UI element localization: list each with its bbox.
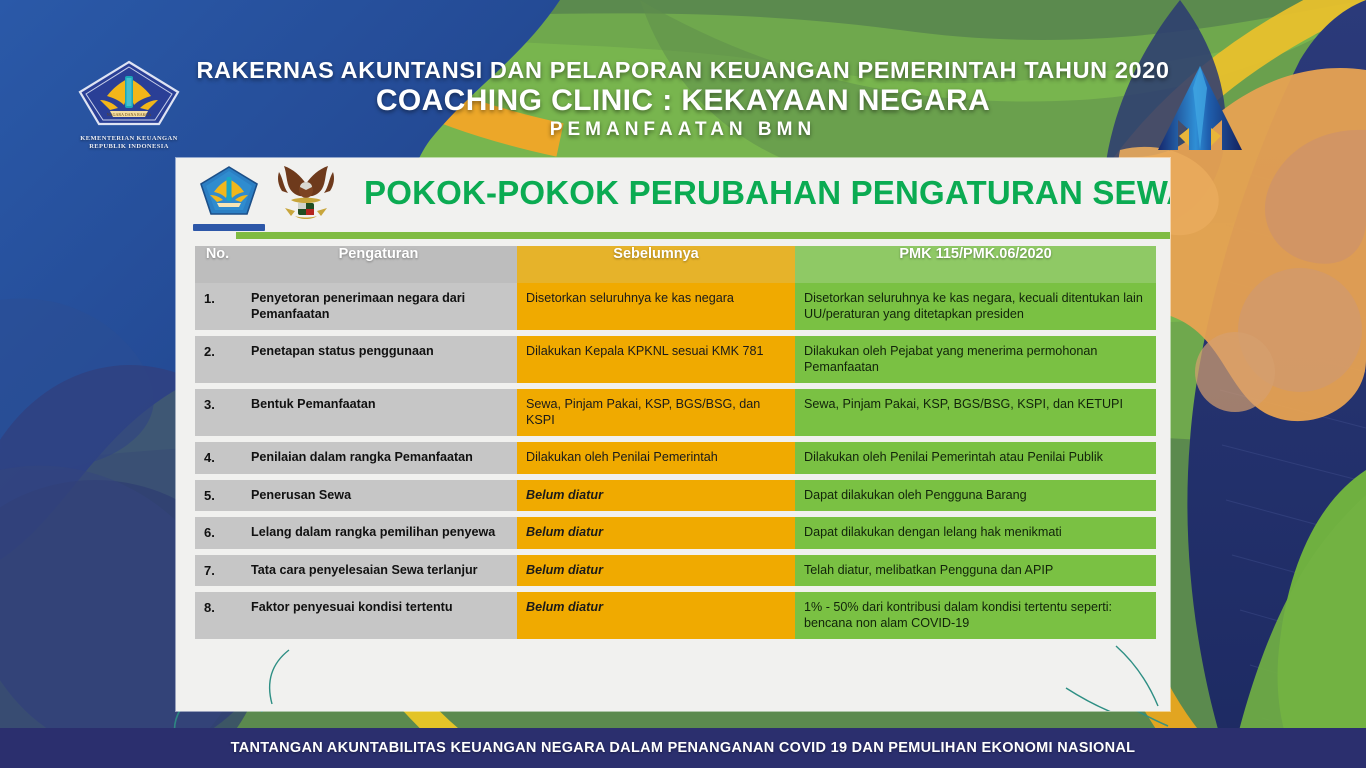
- cell-no: 7.: [195, 555, 240, 587]
- kemenkeu-caption-line2: REPUBLIK INDONESIA: [66, 143, 192, 151]
- cell-no: 3.: [195, 389, 240, 436]
- svg-text:NAGARA DANA RAKCA: NAGARA DANA RAKCA: [107, 112, 151, 117]
- kemenkeu-caption-line1: KEMENTERIAN KEUANGAN: [66, 135, 192, 143]
- table-row: 1.Penyetoran penerimaan negara dari Pema…: [195, 283, 1156, 330]
- cell-pengaturan: Tata cara penyelesaian Sewa terlanjur: [240, 555, 517, 587]
- title-underline: [236, 232, 1170, 239]
- cell-no: 2.: [195, 336, 240, 383]
- cell-no: 1.: [195, 283, 240, 330]
- cell-sebelumnya: Dilakukan Kepala KPKNL sesuai KMK 781: [517, 336, 795, 383]
- cell-pmk: Dapat dilakukan dengan lelang hak menikm…: [795, 517, 1156, 549]
- page-title: POKOK-POKOK PERUBAHAN PENGATURAN SEWA: [364, 174, 1144, 212]
- cell-pengaturan: Penyetoran penerimaan negara dari Pemanf…: [240, 283, 517, 330]
- cell-pmk: Dilakukan oleh Penilai Pemerintah atau P…: [795, 442, 1156, 474]
- cell-pmk: Dilakukan oleh Pejabat yang menerima per…: [795, 336, 1156, 383]
- slide-card: POKOK-POKOK PERUBAHAN PENGATURAN SEWA No…: [176, 158, 1170, 711]
- table-row: 8.Faktor penyesuai kondisi tertentuBelum…: [195, 592, 1156, 639]
- cell-sebelumnya: Belum diatur: [517, 555, 795, 587]
- kemenkeu-caption: KEMENTERIAN KEUANGAN REPUBLIK INDONESIA: [66, 135, 192, 151]
- table-header-pmk: PMK 115/PMK.06/2020: [795, 246, 1156, 283]
- arrow-up-icon: [1145, 58, 1255, 158]
- cell-pmk: Sewa, Pinjam Pakai, KSP, BGS/BSG, KSPI, …: [795, 389, 1156, 436]
- comparison-table: No. Pengaturan Sebelumnya PMK 115/PMK.06…: [195, 246, 1156, 639]
- kemenkeu-logo: NAGARA DANA RAKCA KEMENTERIAN KEUANGAN R…: [66, 58, 192, 158]
- table-body: 1.Penyetoran penerimaan negara dari Pema…: [195, 283, 1156, 639]
- cell-pengaturan: Faktor penyesuai kondisi tertentu: [240, 592, 517, 639]
- cell-no: 8.: [195, 592, 240, 639]
- table-header-sebelumnya: Sebelumnya: [517, 246, 795, 283]
- table-row: 5.Penerusan SewaBelum diaturDapat dilaku…: [195, 480, 1156, 512]
- footer-text: TANTANGAN AKUNTABILITAS KEUANGAN NEGARA …: [231, 740, 1136, 756]
- cell-pengaturan: Penetapan status penggunaan: [240, 336, 517, 383]
- table-row: 4.Penilaian dalam rangka PemanfaatanDila…: [195, 442, 1156, 474]
- slide-kemenkeu-logo-icon: [195, 164, 263, 222]
- cell-sebelumnya: Belum diatur: [517, 517, 795, 549]
- cell-no: 5.: [195, 480, 240, 512]
- cell-pengaturan: Lelang dalam rangka pemilihan penyewa: [240, 517, 517, 549]
- table-header-pengaturan: Pengaturan: [240, 246, 517, 283]
- slide-card-header: POKOK-POKOK PERUBAHAN PENGATURAN SEWA: [176, 158, 1170, 234]
- table-row: 3.Bentuk PemanfaatanSewa, Pinjam Pakai, …: [195, 389, 1156, 436]
- kemenkeu-emblem-icon: NAGARA DANA RAKCA: [66, 58, 192, 128]
- table-header-row: No. Pengaturan Sebelumnya PMK 115/PMK.06…: [195, 246, 1156, 283]
- slide-logo-underline: [193, 224, 265, 231]
- cell-pengaturan: Penerusan Sewa: [240, 480, 517, 512]
- cell-sebelumnya: Sewa, Pinjam Pakai, KSP, BGS/BSG, dan KS…: [517, 389, 795, 436]
- cell-sebelumnya: Dilakukan oleh Penilai Pemerintah: [517, 442, 795, 474]
- cell-pengaturan: Bentuk Pemanfaatan: [240, 389, 517, 436]
- cell-pmk: 1% - 50% dari kontribusi dalam kondisi t…: [795, 592, 1156, 639]
- table-row: 2.Penetapan status penggunaanDilakukan K…: [195, 336, 1156, 383]
- table-header-no: No.: [195, 246, 240, 283]
- cell-sebelumnya: Belum diatur: [517, 592, 795, 639]
- cell-pengaturan: Penilaian dalam rangka Pemanfaatan: [240, 442, 517, 474]
- cell-pmk: Disetorkan seluruhnya ke kas negara, kec…: [795, 283, 1156, 330]
- cell-sebelumnya: Disetorkan seluruhnya ke kas negara: [517, 283, 795, 330]
- cell-pmk: Dapat dilakukan oleh Pengguna Barang: [795, 480, 1156, 512]
- cell-no: 4.: [195, 442, 240, 474]
- table-row: 6.Lelang dalam rangka pemilihan penyewaB…: [195, 517, 1156, 549]
- table-row: 7.Tata cara penyelesaian Sewa terlanjurB…: [195, 555, 1156, 587]
- garuda-logo-icon: [271, 164, 341, 224]
- arrow-emblem: [1145, 58, 1255, 158]
- cell-no: 6.: [195, 517, 240, 549]
- cell-pmk: Telah diatur, melibatkan Pengguna dan AP…: [795, 555, 1156, 587]
- footer-bar: TANTANGAN AKUNTABILITAS KEUANGAN NEGARA …: [0, 728, 1366, 768]
- cell-sebelumnya: Belum diatur: [517, 480, 795, 512]
